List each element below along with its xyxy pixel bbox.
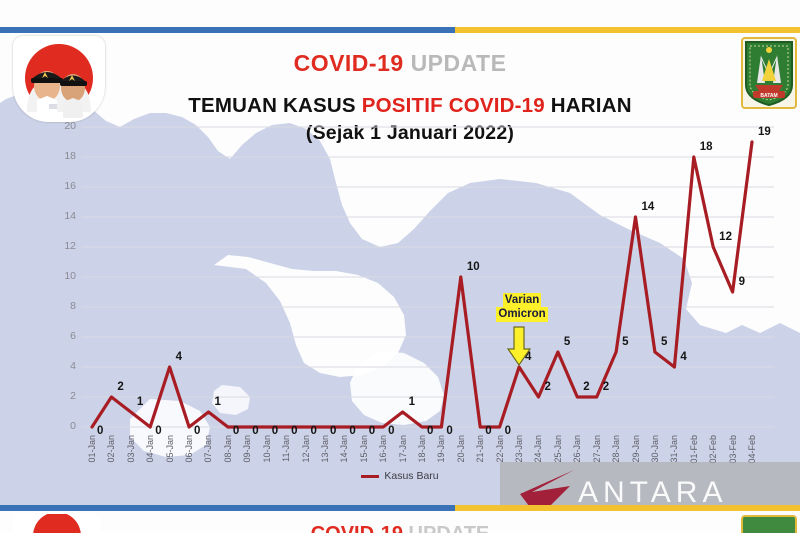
line-chart (0, 33, 800, 473)
x-axis-tick-11-Jan: 11-Jan (281, 435, 291, 462)
data-label-22-Jan: 0 (505, 425, 511, 437)
annotation-line-1: Varian (503, 293, 542, 307)
x-axis-tick-03-Feb: 03-Feb (728, 435, 738, 464)
data-label-28-Jan: 5 (622, 336, 628, 348)
x-axis-tick-27-Jan: 27-Jan (592, 435, 602, 463)
data-label-03-Feb: 9 (739, 276, 745, 288)
data-label-01-Jan: 0 (97, 425, 103, 437)
data-label-18-Jan: 0 (427, 425, 433, 437)
y-axis-tick-8: 8 (50, 300, 76, 312)
x-axis-tick-13-Jan: 13-Jan (320, 435, 330, 463)
x-axis-tick-04-Feb: 04-Feb (747, 435, 757, 464)
x-axis-tick-22-Jan: 22-Jan (495, 435, 505, 463)
data-label-06-Jan: 0 (194, 425, 200, 437)
data-label-17-Jan: 1 (409, 396, 415, 408)
x-axis-tick-14-Jan: 14-Jan (339, 435, 349, 463)
x-axis-tick-29-Jan: 29-Jan (631, 435, 641, 463)
next-slide-peek: COVID-19 UPDATE (0, 511, 800, 533)
x-axis-tick-01-Jan: 01-Jan (87, 435, 97, 463)
x-axis-tick-26-Jan: 26-Jan (572, 435, 582, 463)
x-axis-tick-02-Jan: 02-Jan (106, 435, 116, 463)
x-axis-tick-18-Jan: 18-Jan (417, 435, 427, 463)
x-axis-tick-20-Jan: 20-Jan (456, 435, 466, 463)
data-label-15-Jan: 0 (369, 425, 375, 437)
data-label-10-Jan: 0 (272, 425, 278, 437)
y-axis-tick-4: 4 (50, 360, 76, 372)
next-slide-crest (741, 515, 797, 533)
data-label-07-Jan: 1 (214, 396, 220, 408)
data-label-19-Jan: 0 (446, 425, 452, 437)
data-label-02-Jan: 2 (117, 381, 123, 393)
x-axis-tick-15-Jan: 15-Jan (359, 435, 369, 463)
x-axis-tick-23-Jan: 23-Jan (514, 435, 524, 463)
x-axis-tick-24-Jan: 24-Jan (533, 435, 543, 463)
data-label-11-Jan: 0 (291, 425, 297, 437)
legend-swatch-kasus-baru (361, 475, 379, 478)
data-label-04-Feb: 19 (758, 126, 771, 138)
data-label-31-Jan: 4 (680, 351, 686, 363)
y-axis-tick-2: 2 (50, 390, 76, 402)
data-label-03-Jan: 1 (137, 396, 143, 408)
x-axis-tick-21-Jan: 21-Jan (475, 435, 485, 463)
data-label-24-Jan: 2 (544, 381, 550, 393)
x-axis-tick-31-Jan: 31-Jan (669, 435, 679, 463)
y-axis-tick-6: 6 (50, 330, 76, 342)
next-kicker-covid19: COVID-19 (311, 523, 403, 533)
x-axis-tick-30-Jan: 30-Jan (650, 435, 660, 463)
data-label-25-Jan: 5 (564, 336, 570, 348)
y-axis-tick-20: 20 (50, 120, 76, 132)
x-axis-tick-19-Jan: 19-Jan (436, 435, 446, 463)
x-axis-tick-12-Jan: 12-Jan (301, 435, 311, 463)
data-label-04-Jan: 0 (155, 425, 161, 437)
data-label-20-Jan: 10 (467, 261, 480, 273)
x-axis-tick-03-Jan: 03-Jan (126, 435, 136, 463)
legend-label-kasus-baru: Kasus Baru (384, 470, 438, 482)
data-label-16-Jan: 0 (388, 425, 394, 437)
x-axis-tick-07-Jan: 07-Jan (203, 435, 213, 463)
data-label-29-Jan: 14 (642, 201, 655, 213)
x-axis-tick-10-Jan: 10-Jan (262, 435, 272, 463)
varian-omicron-annotation: Varian Omicron (483, 293, 561, 322)
next-kicker-update: UPDATE (409, 523, 490, 533)
x-axis-tick-08-Jan: 08-Jan (223, 435, 233, 463)
covid-update-slide: BATAM COVID-19 UPDATE TEMUAN KASUS POSIT… (0, 0, 800, 533)
x-axis-tick-17-Jan: 17-Jan (398, 435, 408, 463)
x-axis-tick-28-Jan: 28-Jan (611, 435, 621, 463)
y-axis-tick-18: 18 (50, 150, 76, 162)
x-axis-tick-05-Jan: 05-Jan (165, 435, 175, 463)
data-label-05-Jan: 4 (176, 351, 182, 363)
y-axis-tick-10: 10 (50, 270, 76, 282)
y-axis-tick-0: 0 (50, 420, 76, 432)
x-axis-tick-25-Jan: 25-Jan (553, 435, 563, 463)
data-label-02-Feb: 12 (719, 231, 732, 243)
chart-plot-area: 02468101214161820 01-Jan02-Jan03-Jan04-J… (0, 33, 800, 473)
data-label-30-Jan: 5 (661, 336, 667, 348)
data-label-12-Jan: 0 (311, 425, 317, 437)
y-axis-tick-16: 16 (50, 180, 76, 192)
next-slide-kicker: COVID-19 UPDATE (0, 523, 800, 533)
data-label-01-Feb: 18 (700, 141, 713, 153)
data-label-14-Jan: 0 (349, 425, 355, 437)
annotation-line-2: Omicron (496, 307, 547, 321)
data-label-27-Jan: 2 (603, 381, 609, 393)
x-axis-tick-04-Jan: 04-Jan (145, 435, 155, 463)
data-label-09-Jan: 0 (252, 425, 258, 437)
x-axis-tick-01-Feb: 01-Feb (689, 435, 699, 464)
down-arrow-icon (506, 325, 532, 367)
y-axis-tick-14: 14 (50, 210, 76, 222)
x-axis-tick-16-Jan: 16-Jan (378, 435, 388, 463)
x-axis-tick-06-Jan: 06-Jan (184, 435, 194, 463)
data-label-21-Jan: 0 (485, 425, 491, 437)
x-axis-tick-09-Jan: 09-Jan (242, 435, 252, 463)
data-label-13-Jan: 0 (330, 425, 336, 437)
x-axis-tick-02-Feb: 02-Feb (708, 435, 718, 464)
y-axis-tick-12: 12 (50, 240, 76, 252)
data-label-26-Jan: 2 (583, 381, 589, 393)
data-label-08-Jan: 0 (233, 425, 239, 437)
